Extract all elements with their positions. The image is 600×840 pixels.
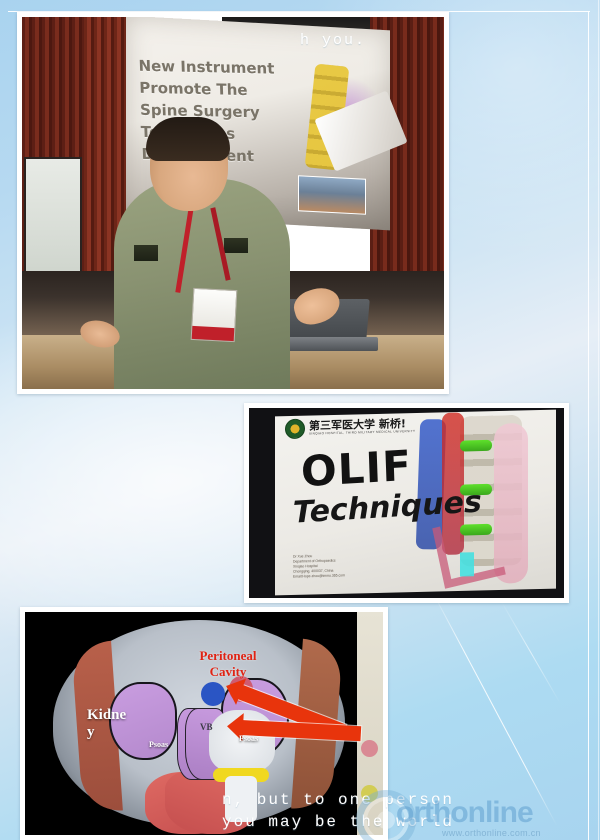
watermark-url: www.orthonline.com.cn	[442, 828, 541, 838]
slide-frame-right-edge-line	[598, 0, 599, 840]
kidney-left	[109, 682, 177, 760]
olif-author-credits: Dr Xue Zhou Department of Orthopaedics X…	[293, 553, 345, 579]
olif-slide-photo-content: 第三军医大学 新桥! XINQIAO HOSPITAL, THIRD MILIT…	[249, 408, 564, 598]
olif-slide-photo: 第三军医大学 新桥! XINQIAO HOSPITAL, THIRD MILIT…	[244, 403, 569, 603]
slide-top-text: h you.	[300, 32, 366, 49]
olif-title: OLIF	[300, 441, 412, 497]
lecture-hall-photo-content: New Instrument Promote The Spine Surgery…	[22, 17, 444, 389]
slide-thumbnail-image	[298, 175, 366, 215]
interbody-cage-3	[460, 524, 492, 536]
decorative-diagonal-streak-secondary	[500, 600, 561, 704]
wall-dot-pink	[361, 740, 378, 757]
speaker-hair	[146, 117, 230, 161]
lecture-hall-photo: New Instrument Promote The Spine Surgery…	[17, 12, 449, 394]
rank-insignia-left	[134, 245, 158, 261]
university-header: 第三军医大学 新桥! XINQIAO HOSPITAL, THIRD MILIT…	[285, 414, 461, 440]
aorta-vessel	[201, 682, 225, 706]
name-badge	[191, 288, 238, 342]
whiteboard	[24, 157, 82, 277]
rank-insignia-right	[224, 238, 248, 253]
university-emblem-icon	[285, 419, 305, 439]
slide-bottom-text: n, but to one person you may be the worl…	[222, 789, 454, 833]
instrument-marker-cyan	[460, 552, 474, 576]
presentation-slide: New Instrument Promote The Spine Surgery…	[0, 0, 600, 840]
interbody-cage-1	[460, 440, 492, 452]
name-badge-color-bar	[192, 326, 235, 341]
speaker-uniform	[114, 179, 290, 389]
slide-frame-right-line	[588, 11, 589, 840]
university-header-text-block: 第三军医大学 新桥! XINQIAO HOSPITAL, THIRD MILIT…	[309, 418, 415, 437]
